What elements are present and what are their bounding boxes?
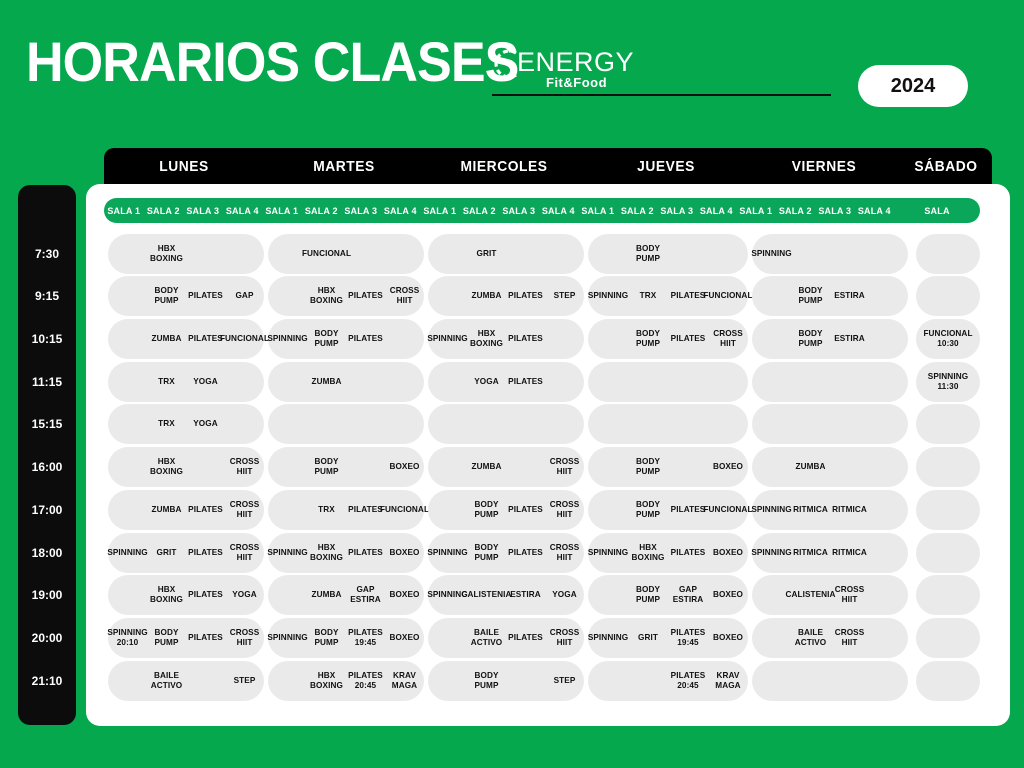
class-cell[interactable]: PILATES — [668, 533, 708, 573]
empty-cell — [869, 575, 908, 615]
class-cell[interactable]: YOGA — [186, 404, 225, 444]
day-slot-group[interactable]: TRXYOGA — [108, 362, 264, 402]
schedule-row: BODY PUMPPILATESGAPHBX BOXINGPILATESCROS… — [104, 276, 984, 316]
class-cell[interactable]: CALISTENIA — [467, 575, 506, 615]
class-cell[interactable]: RITMICA — [830, 533, 869, 573]
day-slot-group[interactable]: HBX BOXINGCROSS HIIT — [108, 447, 264, 487]
class-cell[interactable]: CROSS HIIT — [708, 319, 748, 359]
class-cell[interactable]: RITMICA — [830, 490, 869, 530]
empty-cell — [668, 447, 708, 487]
empty-cell — [916, 661, 980, 701]
empty-cell — [791, 404, 830, 444]
day-slot-group[interactable]: FUNCIONAL 10:30 — [916, 319, 980, 359]
sala-header: SALA 2 — [618, 198, 658, 223]
time-label: 9:15 — [18, 276, 76, 316]
empty-cell — [225, 404, 264, 444]
day-slot-group[interactable]: SPINNINGBODY PUMPPILATES — [268, 319, 424, 359]
day-slot-group[interactable]: YOGAPILATES — [428, 362, 584, 402]
day-slot-group[interactable] — [916, 661, 980, 701]
day-header-miercoles: MIERCOLES — [430, 148, 577, 184]
class-cell[interactable]: TRX — [147, 362, 186, 402]
class-cell[interactable]: YOGA — [225, 575, 264, 615]
class-cell[interactable]: PILATES — [186, 575, 225, 615]
class-cell[interactable]: STEP — [225, 661, 264, 701]
empty-cell — [428, 661, 467, 701]
class-cell[interactable]: YOGA — [467, 362, 506, 402]
class-cell[interactable]: SPINNING — [268, 533, 307, 573]
class-cell[interactable]: CROSS HIIT — [385, 276, 424, 316]
day-slot-group[interactable]: BODY PUMPPILATESFUNCIONAL — [588, 490, 748, 530]
empty-cell — [385, 362, 424, 402]
class-cell[interactable]: FUNCIONAL 10:30 — [916, 319, 980, 359]
class-cell[interactable]: CROSS HIIT — [830, 575, 869, 615]
day-slot-group[interactable]: BAILE ACTIVOPILATESCROSS HIIT — [428, 618, 584, 658]
day-slot-group[interactable] — [916, 276, 980, 316]
class-cell[interactable]: SPINNING — [588, 276, 628, 316]
day-slot-group[interactable]: HBX BOXINGPILATESCROSS HIIT — [268, 276, 424, 316]
class-cell[interactable]: GAP — [225, 276, 264, 316]
sala-header: SALA 2 — [776, 198, 816, 223]
class-cell[interactable]: SPINNING — [268, 618, 307, 658]
class-cell[interactable]: HBX BOXING — [147, 447, 186, 487]
empty-cell — [428, 404, 467, 444]
empty-cell — [506, 447, 545, 487]
page-title: HORARIOS CLASES — [26, 33, 518, 91]
empty-cell — [752, 404, 791, 444]
empty-cell — [752, 319, 791, 359]
day-slot-group[interactable]: HBX BOXINGPILATESYOGA — [108, 575, 264, 615]
day-slot-group[interactable] — [916, 404, 980, 444]
class-cell[interactable]: HBX BOXING — [147, 234, 186, 274]
class-cell[interactable]: ZUMBA — [307, 362, 346, 402]
schedule-row: HBX BOXINGPILATESYOGAZUMBAGAP ESTIRABOXE… — [104, 575, 984, 615]
class-cell[interactable]: PILATES — [506, 319, 545, 359]
empty-cell — [708, 404, 748, 444]
class-cell[interactable]: TRX — [147, 404, 186, 444]
day-slot-group[interactable]: BAILE ACTIVOCROSS HIIT — [752, 618, 908, 658]
class-cell[interactable]: BODY PUMP — [467, 533, 506, 573]
class-cell[interactable]: CALISTENIA — [791, 575, 830, 615]
time-label: 11:15 — [18, 362, 76, 402]
logo-underline — [492, 94, 831, 96]
class-cell[interactable]: PILATES — [186, 276, 225, 316]
class-cell[interactable]: CROSS HIIT — [225, 490, 264, 530]
empty-cell — [268, 447, 307, 487]
class-cell[interactable]: SPINNING — [428, 319, 467, 359]
class-cell[interactable]: PILATES — [346, 533, 385, 573]
class-cell[interactable]: CROSS HIIT — [545, 490, 584, 530]
day-slot-group[interactable]: ZUMBA — [268, 362, 424, 402]
schedule-row: ZUMBAPILATESCROSS HIITTRXPILATESFUNCIONA… — [104, 490, 984, 530]
empty-cell — [916, 404, 980, 444]
class-cell[interactable]: PILATES — [668, 319, 708, 359]
day-slot-group[interactable]: SPINNINGGRITPILATESCROSS HIIT — [108, 533, 264, 573]
day-slot-group[interactable] — [588, 404, 748, 444]
class-cell[interactable]: SPINNING — [752, 234, 791, 274]
day-slot-group[interactable]: BODY PUMPSTEP — [428, 661, 584, 701]
class-cell[interactable]: PILATES — [506, 490, 545, 530]
class-cell[interactable]: BAILE ACTIVO — [791, 618, 830, 658]
day-slot-group[interactable]: HBX BOXINGPILATES 20:45KRAV MAGA — [268, 661, 424, 701]
class-cell[interactable]: BODY PUMP — [467, 661, 506, 701]
empty-cell — [346, 362, 385, 402]
class-cell[interactable]: BOXEO — [385, 533, 424, 573]
empty-cell — [752, 362, 791, 402]
brand-logo: ENERGY Fit&Food — [489, 44, 834, 100]
empty-cell — [916, 276, 980, 316]
class-cell[interactable]: ZUMBA — [147, 319, 186, 359]
sala-group-viernes: SALA 1SALA 2SALA 3SALA 4 — [736, 198, 894, 223]
day-slot-group[interactable] — [916, 447, 980, 487]
sala-header: SALA — [894, 198, 980, 223]
class-cell[interactable]: SPINNING — [752, 490, 791, 530]
class-cell[interactable]: CROSS HIIT — [225, 618, 264, 658]
class-cell[interactable]: BODY PUMP — [467, 490, 506, 530]
page-header: HORARIOS CLASES ENERGY Fit&Food 2024 — [0, 0, 1024, 140]
class-cell[interactable]: SPINNING 11:30 — [916, 362, 980, 402]
day-header-bar: LUNESMARTESMIERCOLESJUEVESVIERNESSÁBADO — [104, 148, 992, 184]
class-cell[interactable]: KRAV MAGA — [385, 661, 424, 701]
sala-header: SALA 3 — [341, 198, 381, 223]
day-slot-group[interactable] — [916, 618, 980, 658]
day-slot-group[interactable] — [428, 404, 584, 444]
empty-cell — [628, 404, 668, 444]
day-slot-group[interactable]: ZUMBA — [752, 447, 908, 487]
empty-cell — [108, 362, 147, 402]
day-slot-group[interactable] — [916, 490, 980, 530]
day-slot-group[interactable]: BODY PUMPPILATESGAP — [108, 276, 264, 316]
day-slot-group[interactable] — [752, 362, 908, 402]
class-cell[interactable]: BOXEO — [708, 575, 748, 615]
empty-cell — [869, 533, 908, 573]
empty-cell — [830, 447, 869, 487]
empty-cell — [108, 490, 147, 530]
day-slot-group[interactable]: SPINNINGTRXPILATESFUNCIONAL — [588, 276, 748, 316]
class-cell[interactable]: HBX BOXING — [147, 575, 186, 615]
day-slot-group[interactable] — [916, 533, 980, 573]
logo-tagline: Fit&Food — [546, 75, 607, 90]
empty-cell — [752, 276, 791, 316]
class-cell[interactable]: BODY PUMP — [628, 575, 668, 615]
class-cell[interactable]: HBX BOXING — [307, 533, 346, 573]
class-cell[interactable]: BODY PUMP — [628, 447, 668, 487]
time-label: 17:00 — [18, 490, 76, 530]
day-header-jueves: JUEVES — [591, 148, 742, 184]
empty-cell — [869, 362, 908, 402]
class-cell[interactable]: PILATES — [346, 319, 385, 359]
class-cell[interactable]: CROSS HIIT — [225, 533, 264, 573]
day-slot-group[interactable]: ZUMBAGAP ESTIRABOXEO — [268, 575, 424, 615]
day-slot-group[interactable]: SPINNINGBODY PUMPPILATESCROSS HIIT — [428, 533, 584, 573]
empty-cell — [428, 618, 467, 658]
class-cell[interactable]: BAILE ACTIVO — [467, 618, 506, 658]
class-cell[interactable]: STEP — [545, 276, 584, 316]
class-cell[interactable]: PILATES 19:45 — [668, 618, 708, 658]
year-badge: 2024 — [858, 65, 968, 107]
class-cell[interactable]: KRAV MAGA — [708, 661, 748, 701]
empty-cell — [752, 618, 791, 658]
empty-cell — [708, 362, 748, 402]
class-cell[interactable]: GAP ESTIRA — [346, 575, 385, 615]
day-slot-group[interactable]: SPINNINGHBX BOXINGPILATESBOXEO — [268, 533, 424, 573]
empty-cell — [588, 362, 628, 402]
class-cell[interactable]: HBX BOXING — [467, 319, 506, 359]
sala-group-sábado: SALA — [894, 198, 980, 223]
schedule-row: HBX BOXINGFUNCIONALGRITBODY PUMPSPINNING — [104, 234, 984, 274]
day-slot-group[interactable]: ZUMBACROSS HIIT — [428, 447, 584, 487]
day-slot-group[interactable] — [268, 404, 424, 444]
class-cell[interactable]: SPINNING — [428, 533, 467, 573]
empty-cell — [186, 234, 225, 274]
class-cell[interactable]: PILATES — [186, 490, 225, 530]
time-label: 20:00 — [18, 618, 76, 658]
empty-cell — [108, 404, 147, 444]
class-cell[interactable]: CROSS HIIT — [225, 447, 264, 487]
day-slot-group[interactable]: TRXYOGA — [108, 404, 264, 444]
day-slot-group[interactable]: SPINNINGHBX BOXINGPILATES — [428, 319, 584, 359]
class-cell[interactable]: SPINNING — [268, 319, 307, 359]
day-slot-group[interactable]: PILATES 20:45KRAV MAGA — [588, 661, 748, 701]
class-cell[interactable]: BODY PUMP — [147, 276, 186, 316]
empty-cell — [916, 490, 980, 530]
class-cell[interactable]: BODY PUMP — [307, 618, 346, 658]
day-slot-group[interactable]: TRXPILATESFUNCIONAL — [268, 490, 424, 530]
class-cell[interactable]: ZUMBA — [467, 447, 506, 487]
class-cell[interactable]: SPINNING — [752, 533, 791, 573]
empty-cell — [588, 490, 628, 530]
empty-cell — [346, 404, 385, 444]
sala-header: SALA 1 — [262, 198, 302, 223]
class-cell[interactable]: SPINNING — [588, 533, 628, 573]
day-slot-group[interactable]: BODY PUMPESTIRA — [752, 276, 908, 316]
day-slot-group[interactable]: SPINNINGRITMICARITMICA — [752, 533, 908, 573]
empty-cell — [545, 234, 584, 274]
day-slot-group[interactable]: FUNCIONAL — [268, 234, 424, 274]
class-cell[interactable]: PILATES — [506, 533, 545, 573]
empty-cell — [428, 234, 467, 274]
class-cell[interactable]: CROSS HIIT — [545, 447, 584, 487]
empty-cell — [588, 404, 628, 444]
logo-wordmark: ENERGY — [517, 47, 634, 77]
class-cell[interactable]: PILATES — [506, 276, 545, 316]
day-slot-group[interactable] — [916, 234, 980, 274]
day-slot-group[interactable]: SPINNING — [752, 234, 908, 274]
day-slot-group[interactable]: HBX BOXING — [108, 234, 264, 274]
class-cell[interactable]: PILATES — [186, 618, 225, 658]
class-cell[interactable]: ZUMBA — [307, 575, 346, 615]
class-cell[interactable]: TRX — [628, 276, 668, 316]
class-cell[interactable]: PILATES — [186, 533, 225, 573]
class-cell[interactable]: BODY PUMP — [307, 319, 346, 359]
class-cell[interactable]: BODY PUMP — [791, 319, 830, 359]
class-cell[interactable]: HBX BOXING — [307, 661, 346, 701]
empty-cell — [869, 447, 908, 487]
class-cell[interactable]: GRIT — [628, 618, 668, 658]
empty-cell — [108, 276, 147, 316]
empty-cell — [869, 276, 908, 316]
time-label: 15:15 — [18, 404, 76, 444]
empty-cell — [869, 490, 908, 530]
class-cell[interactable]: CROSS HIIT — [545, 618, 584, 658]
empty-cell — [186, 447, 225, 487]
empty-cell — [869, 234, 908, 274]
sala-header: SALA 4 — [855, 198, 895, 223]
sala-header: SALA 1 — [420, 198, 460, 223]
class-cell[interactable]: ZUMBA — [147, 490, 186, 530]
empty-cell — [916, 533, 980, 573]
empty-cell — [545, 319, 584, 359]
class-cell[interactable]: PILATES 19:45 — [346, 618, 385, 658]
day-slot-group[interactable]: BODY PUMPGAP ESTIRABOXEO — [588, 575, 748, 615]
class-cell[interactable]: BOXEO — [385, 447, 424, 487]
class-cell[interactable]: PILATES 20:45 — [668, 661, 708, 701]
class-cell[interactable]: ZUMBA — [791, 447, 830, 487]
class-cell[interactable]: YOGA — [186, 362, 225, 402]
empty-cell — [830, 362, 869, 402]
class-cell[interactable]: YOGA — [545, 575, 584, 615]
class-cell[interactable]: TRX — [307, 490, 346, 530]
day-header-sábado: SÁBADO — [904, 148, 989, 184]
class-cell[interactable]: FUNCIONAL — [225, 319, 264, 359]
day-slot-group[interactable]: BODY PUMP — [588, 234, 748, 274]
class-cell[interactable]: BODY PUMP — [791, 276, 830, 316]
day-slot-group[interactable]: BODY PUMPPILATESCROSS HIIT — [588, 319, 748, 359]
empty-cell — [268, 404, 307, 444]
empty-cell — [346, 234, 385, 274]
sala-header: SALA 2 — [302, 198, 342, 223]
class-cell[interactable]: ESTIRA — [830, 319, 869, 359]
class-cell[interactable]: BAILE ACTIVO — [147, 661, 186, 701]
empty-cell — [916, 447, 980, 487]
time-label: 10:15 — [18, 319, 76, 359]
day-slot-group[interactable]: SPINNINGGRITPILATES 19:45BOXEO — [588, 618, 748, 658]
class-cell[interactable]: PILATES — [346, 276, 385, 316]
day-slot-group[interactable]: BODY PUMPPILATESCROSS HIIT — [428, 490, 584, 530]
day-slot-group[interactable]: BODY PUMPBOXEO — [588, 447, 748, 487]
day-slot-group[interactable] — [752, 661, 908, 701]
empty-cell — [108, 575, 147, 615]
empty-cell — [428, 447, 467, 487]
class-cell[interactable]: HBX BOXING — [628, 533, 668, 573]
day-slot-group[interactable]: SPINNINGCALISTENIAESTIRAYOGA — [428, 575, 584, 615]
sala-group-martes: SALA 1SALA 2SALA 3SALA 4 — [262, 198, 420, 223]
schedule-row: SPINNING 20:10BODY PUMPPILATESCROSS HIIT… — [104, 618, 984, 658]
class-cell[interactable]: HBX BOXING — [307, 276, 346, 316]
empty-cell — [307, 404, 346, 444]
empty-cell — [668, 234, 708, 274]
schedule-row: TRXYOGA — [104, 404, 984, 444]
day-slot-group[interactable]: ZUMBAPILATESFUNCIONAL — [108, 319, 264, 359]
class-cell[interactable]: PILATES 20:45 — [346, 661, 385, 701]
day-slot-group[interactable]: BODY PUMPBOXEO — [268, 447, 424, 487]
schedule-row: TRXYOGAZUMBAYOGAPILATESSPINNING 11:30 — [104, 362, 984, 402]
class-cell[interactable]: SPINNING — [108, 533, 147, 573]
day-slot-group[interactable] — [588, 362, 748, 402]
empty-cell — [588, 319, 628, 359]
sala-header: SALA 3 — [499, 198, 539, 223]
empty-cell — [385, 234, 424, 274]
class-cell[interactable]: BODY PUMP — [307, 447, 346, 487]
empty-cell — [108, 661, 147, 701]
empty-cell — [668, 362, 708, 402]
empty-cell — [588, 447, 628, 487]
day-slot-group[interactable]: ZUMBAPILATESCROSS HIIT — [108, 490, 264, 530]
class-cell[interactable]: GRIT — [467, 234, 506, 274]
time-label: 21:10 — [18, 661, 76, 701]
day-slot-group[interactable]: SPINNINGRITMICARITMICA — [752, 490, 908, 530]
empty-cell — [186, 661, 225, 701]
empty-cell — [628, 661, 668, 701]
class-cell[interactable]: BOXEO — [708, 618, 748, 658]
empty-cell — [268, 575, 307, 615]
class-cell[interactable]: BOXEO — [708, 447, 748, 487]
class-cell[interactable]: FUNCIONAL — [708, 490, 748, 530]
class-cell[interactable]: PILATES — [668, 490, 708, 530]
day-slot-group[interactable]: GRIT — [428, 234, 584, 274]
class-cell[interactable]: ESTIRA — [830, 276, 869, 316]
class-cell[interactable]: FUNCIONAL — [708, 276, 748, 316]
class-cell[interactable]: CROSS HIIT — [830, 618, 869, 658]
empty-cell — [830, 234, 869, 274]
class-cell[interactable]: PILATES — [506, 618, 545, 658]
class-cell[interactable]: ZUMBA — [467, 276, 506, 316]
class-cell[interactable]: FUNCIONAL — [307, 234, 346, 274]
class-cell[interactable]: PILATES — [668, 276, 708, 316]
class-cell[interactable]: SPINNING 20:10 — [108, 618, 147, 658]
empty-cell — [668, 404, 708, 444]
day-slot-group[interactable]: SPINNINGBODY PUMPPILATES 19:45BOXEO — [268, 618, 424, 658]
class-cell[interactable]: ESTIRA — [506, 575, 545, 615]
sala-header: SALA 4 — [539, 198, 579, 223]
class-cell[interactable]: BOXEO — [385, 618, 424, 658]
day-slot-group[interactable]: SPINNING 20:10BODY PUMPPILATESCROSS HIIT — [108, 618, 264, 658]
class-cell[interactable]: BOXEO — [385, 575, 424, 615]
empty-cell — [869, 618, 908, 658]
class-cell[interactable]: BODY PUMP — [628, 490, 668, 530]
class-cell[interactable]: RITMICA — [791, 490, 830, 530]
empty-cell — [869, 661, 908, 701]
empty-cell — [545, 362, 584, 402]
day-slot-group[interactable] — [916, 575, 980, 615]
day-slot-group[interactable]: CALISTENIACROSS HIIT — [752, 575, 908, 615]
class-cell[interactable]: PILATES — [506, 362, 545, 402]
empty-cell — [791, 234, 830, 274]
class-cell[interactable]: FUNCIONAL — [385, 490, 424, 530]
class-cell[interactable]: GAP ESTIRA — [668, 575, 708, 615]
class-cell[interactable]: BODY PUMP — [628, 234, 668, 274]
sala-header: SALA 4 — [381, 198, 421, 223]
day-slot-group[interactable]: ZUMBAPILATESSTEP — [428, 276, 584, 316]
schedule-row: SPINNINGGRITPILATESCROSS HIITSPINNINGHBX… — [104, 533, 984, 573]
class-cell[interactable]: BOXEO — [708, 533, 748, 573]
sala-header: SALA 3 — [183, 198, 223, 223]
day-slot-group[interactable]: SPINNING 11:30 — [916, 362, 980, 402]
class-cell[interactable]: GRIT — [147, 533, 186, 573]
class-cell[interactable]: BODY PUMP — [147, 618, 186, 658]
class-cell[interactable]: BODY PUMP — [628, 319, 668, 359]
day-slot-group[interactable]: SPINNINGHBX BOXINGPILATESBOXEO — [588, 533, 748, 573]
class-cell[interactable]: STEP — [545, 661, 584, 701]
day-slot-group[interactable] — [752, 404, 908, 444]
class-cell[interactable]: CROSS HIIT — [545, 533, 584, 573]
time-column: 7:309:1510:1511:1515:1516:0017:0018:0019… — [18, 185, 76, 725]
empty-cell — [268, 276, 307, 316]
day-slot-group[interactable]: BAILE ACTIVOSTEP — [108, 661, 264, 701]
empty-cell — [506, 661, 545, 701]
class-cell[interactable]: SPINNING — [588, 618, 628, 658]
class-cell[interactable]: RITMICA — [791, 533, 830, 573]
day-slot-group[interactable]: BODY PUMPESTIRA — [752, 319, 908, 359]
